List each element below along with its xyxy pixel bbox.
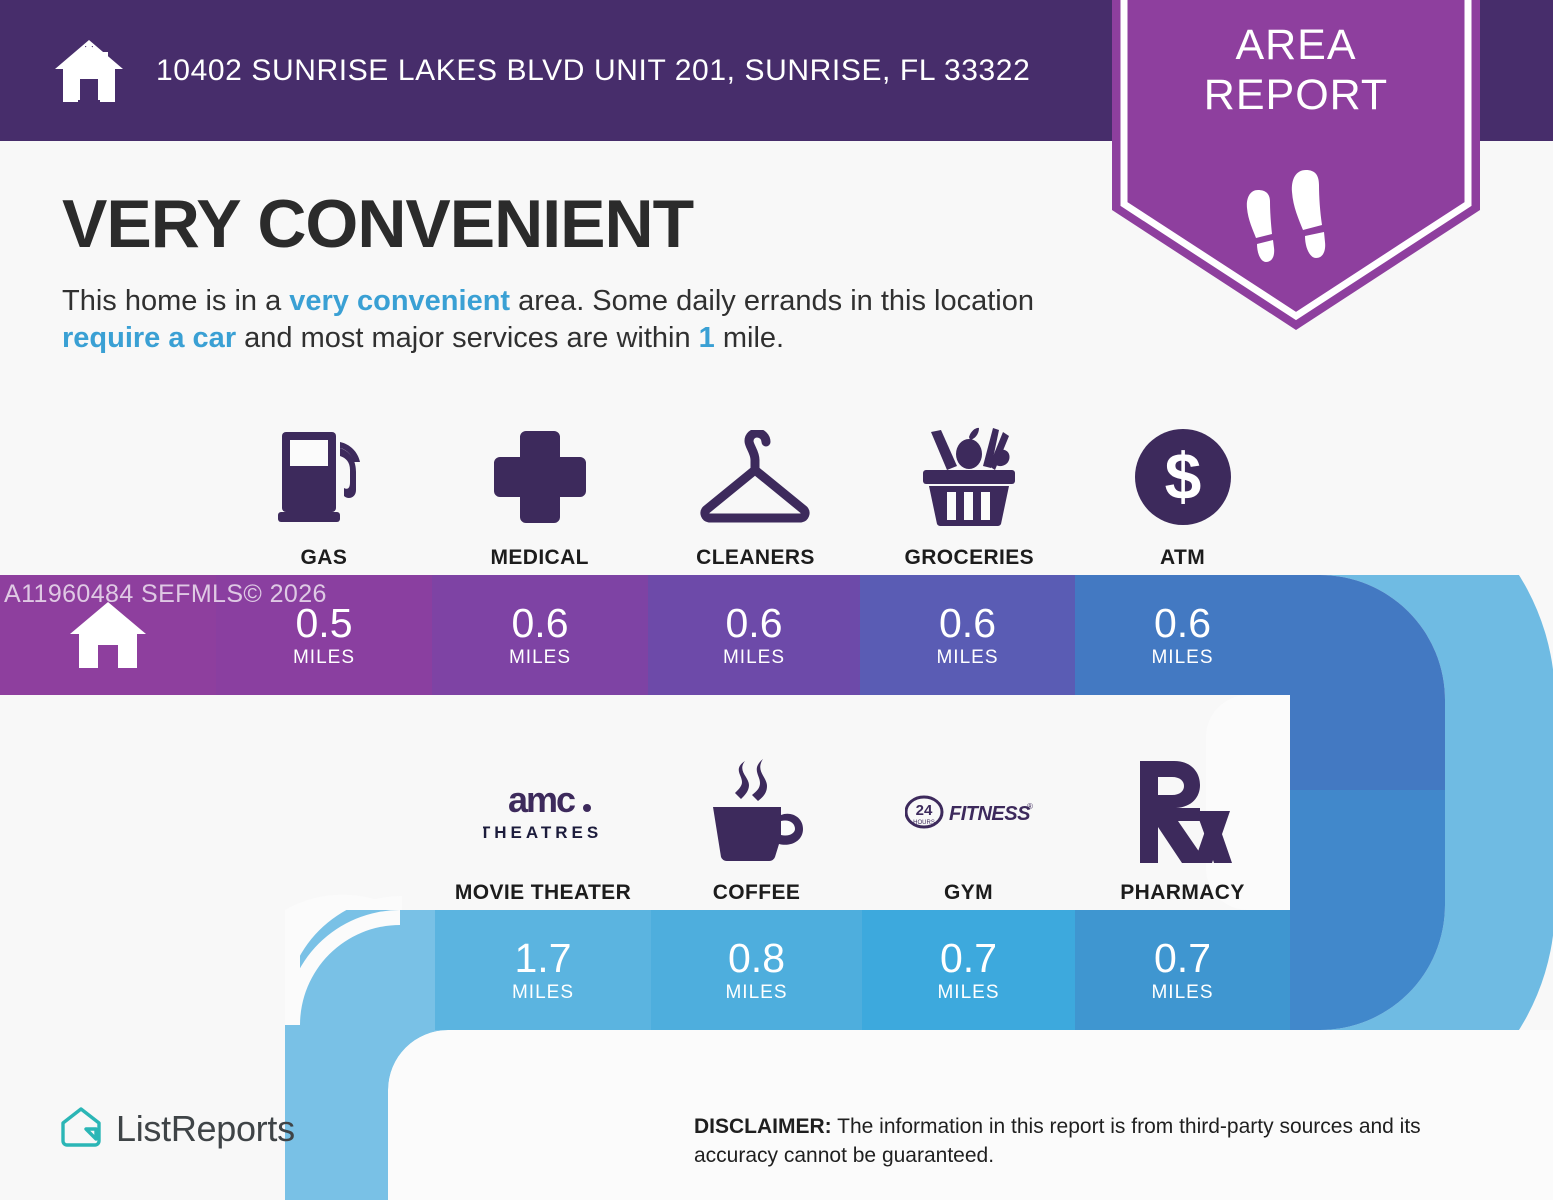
distance-cell-groceries: 0.6 MILES bbox=[860, 575, 1075, 695]
category-groceries: GROCERIES bbox=[863, 420, 1075, 570]
mls-watermark: A11960484 SEFMLS© 2026 bbox=[4, 580, 327, 609]
distance-unit: MILES bbox=[1151, 647, 1213, 669]
dollar-circle-icon: $ bbox=[1133, 422, 1233, 532]
distance-value: 0.8 bbox=[728, 936, 785, 980]
category-gas: GAS bbox=[216, 420, 432, 570]
desc-part4: mile. bbox=[715, 322, 784, 354]
svg-text:®: ® bbox=[1027, 802, 1033, 811]
distance-unit: MILES bbox=[937, 982, 999, 1004]
distance-cell-pharmacy: 0.7 MILES bbox=[1075, 910, 1290, 1030]
category-icon-row-2: amc THEATRES MOVIE THEATER COFFEE bbox=[435, 755, 1290, 905]
distance-value: 0.7 bbox=[1154, 936, 1211, 980]
badge-title-line1: AREA bbox=[1112, 20, 1480, 70]
desc-highlight-miles: 1 bbox=[699, 322, 715, 354]
desc-highlight-car: require a car bbox=[62, 322, 236, 354]
category-movie-theater: amc THEATRES MOVIE THEATER bbox=[435, 755, 651, 905]
disclaimer: DISCLAIMER: The information in this repo… bbox=[694, 1112, 1494, 1170]
svg-text:FITNESS: FITNESS bbox=[949, 803, 1031, 825]
listreports-house-icon bbox=[58, 1105, 104, 1153]
desc-part2: area. Some daily errands in this locatio… bbox=[510, 285, 1034, 317]
page-description: This home is in a very convenient area. … bbox=[62, 283, 1102, 357]
category-label: ATM bbox=[1160, 546, 1205, 570]
badge-title: AREA REPORT bbox=[1112, 20, 1480, 120]
grocery-basket-icon bbox=[913, 422, 1025, 532]
rx-icon bbox=[1134, 757, 1232, 867]
desc-highlight-convenient: very convenient bbox=[289, 285, 510, 317]
distance-value: 0.6 bbox=[726, 601, 783, 645]
hanger-icon bbox=[694, 422, 816, 532]
category-icon-row-1: GAS MEDICAL CLEANERS bbox=[216, 420, 1290, 570]
category-gym: 24 HOURS FITNESS ® GYM bbox=[862, 755, 1075, 905]
disclaimer-label: DISCLAIMER: bbox=[694, 1115, 832, 1138]
home-icon bbox=[67, 600, 149, 670]
distance-cell-atm: 0.6 MILES bbox=[1075, 575, 1290, 695]
listreports-brand[interactable]: ListReports bbox=[58, 1105, 295, 1153]
coffee-cup-icon bbox=[705, 757, 809, 867]
category-label: PHARMACY bbox=[1120, 881, 1245, 905]
distance-row-2: 1.7 MILES 0.8 MILES 0.7 MILES 0.7 MILES bbox=[435, 910, 1290, 1030]
distance-unit: MILES bbox=[725, 982, 787, 1004]
svg-text:$: $ bbox=[1164, 439, 1201, 513]
category-medical: MEDICAL bbox=[432, 420, 648, 570]
svg-text:HOURS: HOURS bbox=[913, 820, 935, 826]
distance-cell-gym: 0.7 MILES bbox=[862, 910, 1075, 1030]
home-icon bbox=[52, 38, 126, 104]
category-label: MOVIE THEATER bbox=[455, 881, 631, 905]
distance-cell-cleaners: 0.6 MILES bbox=[648, 575, 860, 695]
distance-unit: MILES bbox=[509, 647, 571, 669]
category-label: GAS bbox=[301, 546, 348, 570]
24-hour-fitness-logo: 24 HOURS FITNESS ® bbox=[905, 757, 1033, 867]
distance-cell-movie-theater: 1.7 MILES bbox=[435, 910, 651, 1030]
category-label: GYM bbox=[944, 881, 993, 905]
category-atm: $ ATM bbox=[1075, 420, 1290, 570]
svg-text:24: 24 bbox=[915, 802, 932, 819]
distance-unit: MILES bbox=[512, 982, 574, 1004]
svg-text:THEATRES: THEATRES bbox=[483, 823, 602, 842]
header-bar: 10402 SUNRISE LAKES BLVD UNIT 201, SUNRI… bbox=[0, 0, 1115, 141]
distance-cell-coffee: 0.8 MILES bbox=[651, 910, 862, 1030]
category-coffee: COFFEE bbox=[651, 755, 862, 905]
page-title: VERY CONVENIENT bbox=[62, 185, 693, 263]
amc-theatres-logo: amc THEATRES bbox=[483, 757, 603, 867]
brand-name: ListReports bbox=[116, 1108, 295, 1150]
svg-text:amc: amc bbox=[508, 779, 575, 820]
badge-title-line2: REPORT bbox=[1112, 70, 1480, 120]
category-label: CLEANERS bbox=[696, 546, 815, 570]
distance-value: 1.7 bbox=[515, 936, 572, 980]
area-report-badge: AREA REPORT bbox=[1112, 0, 1480, 330]
distance-value: 0.7 bbox=[940, 936, 997, 980]
distance-cell-medical: 0.6 MILES bbox=[432, 575, 648, 695]
category-pharmacy: PHARMACY bbox=[1075, 755, 1290, 905]
gas-pump-icon bbox=[278, 422, 370, 532]
desc-part3: and most major services are within bbox=[236, 322, 699, 354]
distance-unit: MILES bbox=[293, 647, 355, 669]
category-label: COFFEE bbox=[713, 881, 801, 905]
area-report-page: 10402 SUNRISE LAKES BLVD UNIT 201, SUNRI… bbox=[0, 0, 1553, 1200]
distance-unit: MILES bbox=[1151, 982, 1213, 1004]
category-label: GROCERIES bbox=[904, 546, 1034, 570]
category-cleaners: CLEANERS bbox=[648, 420, 864, 570]
distance-value: 0.6 bbox=[1154, 601, 1211, 645]
distance-unit: MILES bbox=[936, 647, 998, 669]
desc-part1: This home is in a bbox=[62, 285, 289, 317]
property-address: 10402 SUNRISE LAKES BLVD UNIT 201, SUNRI… bbox=[156, 54, 1030, 88]
category-label: MEDICAL bbox=[490, 546, 588, 570]
medical-cross-icon bbox=[492, 422, 588, 532]
distance-unit: MILES bbox=[723, 647, 785, 669]
distance-value: 0.6 bbox=[939, 601, 996, 645]
distance-value: 0.6 bbox=[512, 601, 569, 645]
